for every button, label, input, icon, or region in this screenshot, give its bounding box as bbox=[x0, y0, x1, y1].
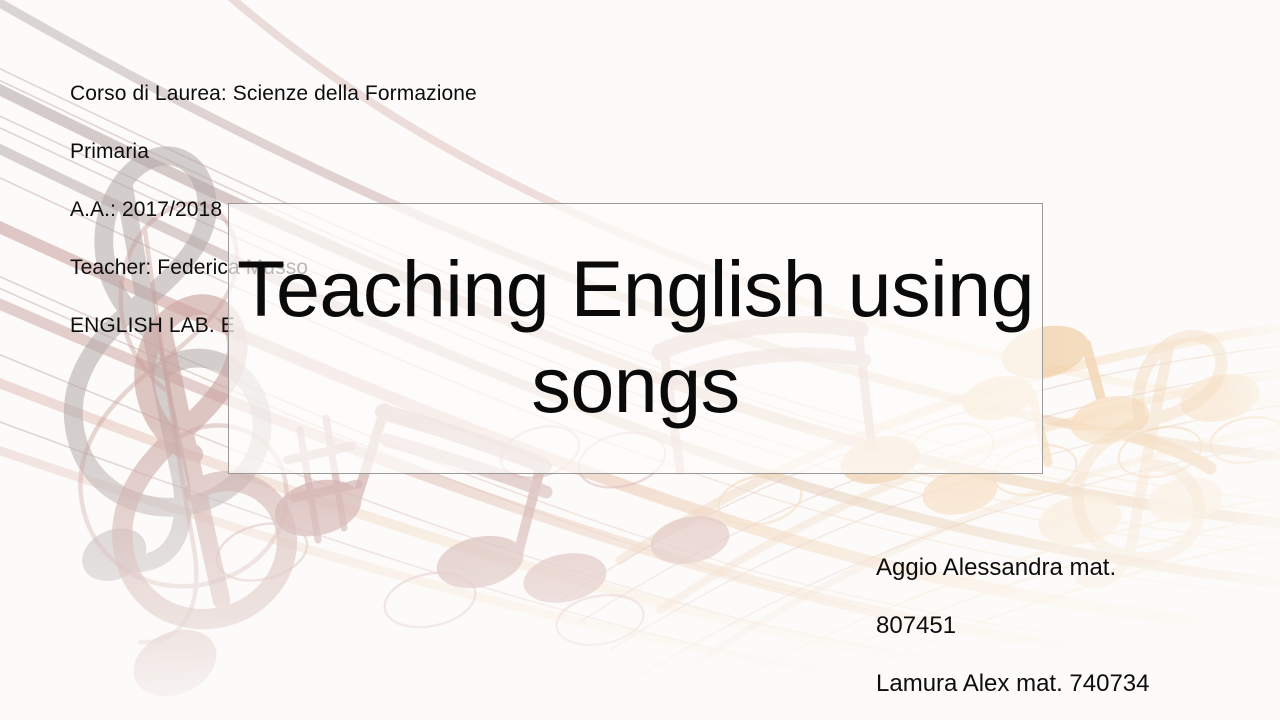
course-header-line-2: Primaria bbox=[70, 137, 690, 166]
course-header-line-1: Corso di Laurea: Scienze della Formazion… bbox=[70, 79, 690, 108]
authors-list: Aggio Alessandra mat. 807451 Lamura Alex… bbox=[876, 524, 1206, 720]
author-line-3: Lamura Alex mat. 740734 bbox=[876, 669, 1206, 698]
author-line-2: 807451 bbox=[876, 611, 1206, 640]
title-placeholder-box[interactable]: Teaching English using songs bbox=[228, 203, 1043, 474]
slide-canvas: Corso di Laurea: Scienze della Formazion… bbox=[0, 0, 1280, 720]
author-line-1: Aggio Alessandra mat. bbox=[876, 553, 1206, 582]
slide-title: Teaching English using songs bbox=[229, 241, 1042, 433]
